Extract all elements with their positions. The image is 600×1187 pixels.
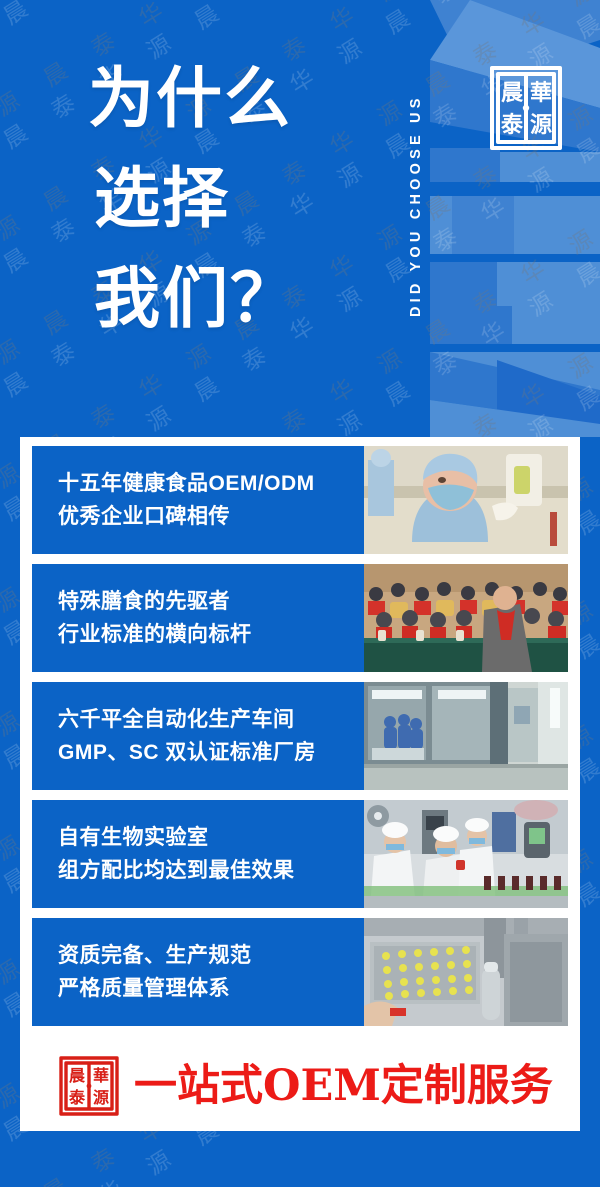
svg-text:華: 華 [93,1066,109,1085]
production-line-workers-photo [364,800,568,908]
feature-card-text: 资质完备、生产规范 严格质量管理体系 [32,918,364,1026]
feature-card[interactable]: 特殊膳食的先驱者 行业标准的横向标杆 [32,564,568,672]
feature-card-text: 十五年健康食品OEM/ODM 优秀企业口碑相传 [32,446,364,554]
page-title-line-3: 我们？ [88,248,388,348]
feature-card[interactable]: 资质完备、生产规范 严格质量管理体系 [32,918,568,1026]
feature-card-text: 自有生物实验室 组方配比均达到最佳效果 [32,800,364,908]
brand-seal-red-icon: 華 源 晨 泰 [58,1055,120,1117]
cta-banner-text: 一站式OEM定制服务 [134,1060,553,1112]
svg-text:晨: 晨 [501,80,524,106]
lab-technician-inspecting-vial-photo [364,446,568,554]
tablet-packaging-machine-photo [364,918,568,1026]
feature-card-line-1: 资质完备、生产规范 [58,939,356,972]
page-title-line-1: 为什么 [88,48,388,148]
feature-card-line-2: GMP、SC 双认证标准厂房 [58,736,356,769]
vertical-tagline: DID YOU CHOOSE US [398,18,424,393]
features-panel: 十五年健康食品OEM/ODM 优秀企业口碑相传 [20,437,580,1131]
cta-banner[interactable]: 華 源 晨 泰 一站式OEM定制服务 [32,1050,568,1122]
feature-card-text: 六千平全自动化生产车间 GMP、SC 双认证标准厂房 [32,682,364,790]
feature-card[interactable]: 自有生物实验室 组方配比均达到最佳效果 [32,800,568,908]
page-title-line-2: 选择 [88,148,388,248]
page-title: 为什么 选择 我们？ [88,48,388,348]
feature-card-line-2: 行业标准的横向标杆 [58,618,356,651]
feature-card-line-2: 严格质量管理体系 [58,972,356,1005]
feature-card-line-1: 自有生物实验室 [58,821,356,854]
feature-card-line-1: 六千平全自动化生产车间 [58,703,356,736]
conference-audience-photo [364,564,568,672]
feature-card-list: 十五年健康食品OEM/ODM 优秀企业口碑相传 [32,446,568,1026]
feature-card[interactable]: 六千平全自动化生产车间 GMP、SC 双认证标准厂房 [32,682,568,790]
feature-card-line-1: 特殊膳食的先驱者 [58,585,356,618]
feature-card-line-2: 组方配比均达到最佳效果 [58,854,356,887]
feature-card-line-1: 十五年健康食品OEM/ODM [58,467,356,500]
svg-text:源: 源 [530,112,552,138]
svg-text:泰: 泰 [68,1088,86,1107]
feature-card-text: 特殊膳食的先驱者 行业标准的横向标杆 [32,564,364,672]
hero-section: 为什么 选择 我们？ DID YOU CHOOSE US 華 源 晨 泰 [0,0,600,437]
feature-card-line-2: 优秀企业口碑相传 [58,500,356,533]
svg-text:晨: 晨 [69,1066,86,1085]
brand-seal-icon: 華 源 晨 泰 [487,62,565,154]
feature-card[interactable]: 十五年健康食品OEM/ODM 优秀企业口碑相传 [32,446,568,554]
clean-room-corridor-photo [364,682,568,790]
svg-text:華: 華 [530,80,552,106]
svg-text:泰: 泰 [500,112,524,138]
svg-text:源: 源 [93,1088,109,1107]
